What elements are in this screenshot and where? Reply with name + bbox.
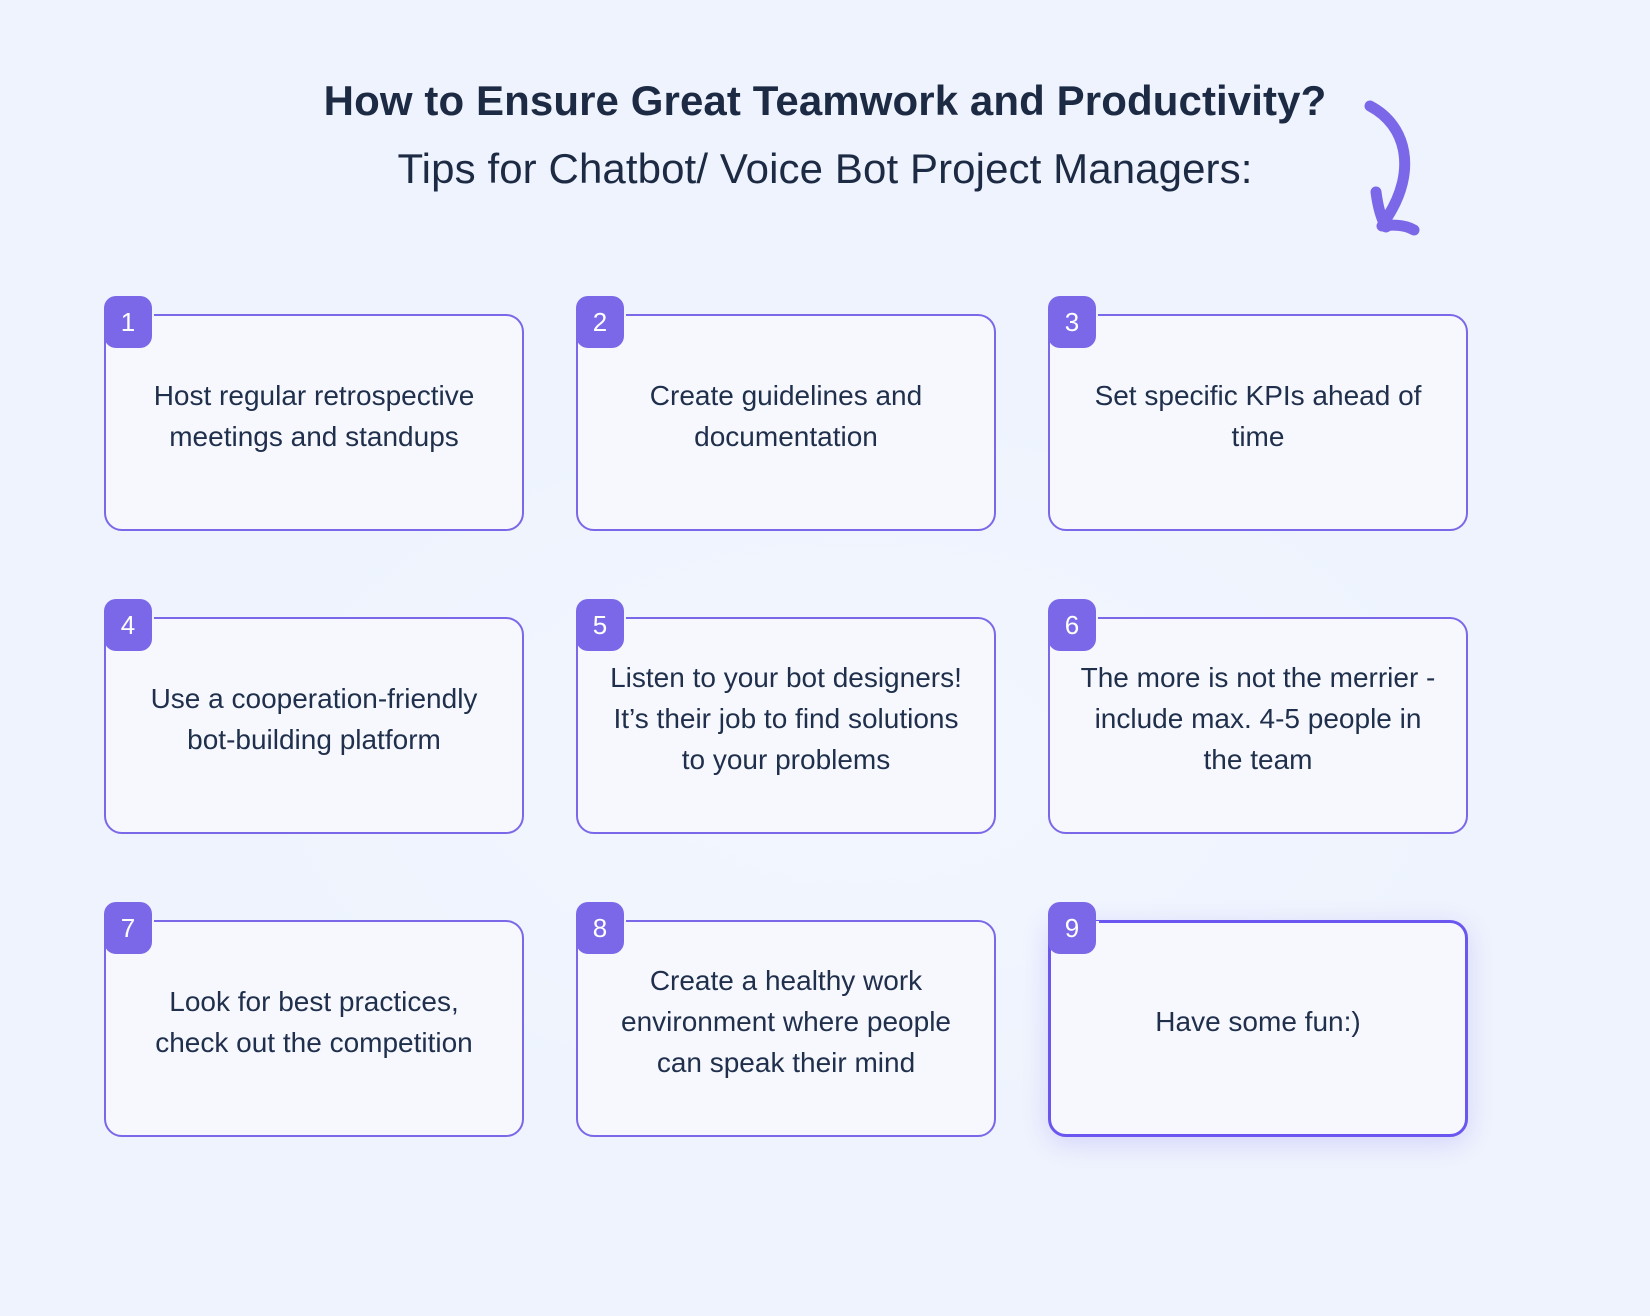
page-title-line-2: Tips for Chatbot/ Voice Bot Project Mana… xyxy=(0,144,1650,194)
tip-card-7[interactable]: 7 Look for best practices, check out the… xyxy=(104,902,524,1137)
header: How to Ensure Great Teamwork and Product… xyxy=(0,76,1650,193)
card-text: Listen to your bot designers! It’s their… xyxy=(598,599,974,834)
tips-grid: 1 Host regular retrospective meetings an… xyxy=(104,296,1508,1137)
tip-card-9[interactable]: 9 Have some fun:) xyxy=(1048,902,1468,1137)
card-number-badge: 7 xyxy=(104,902,152,954)
tip-card-2[interactable]: 2 Create guidelines and documentation xyxy=(576,296,996,531)
tip-card-4[interactable]: 4 Use a cooperation-friendly bot-buildin… xyxy=(104,599,524,834)
card-number-badge: 1 xyxy=(104,296,152,348)
card-text: Create guidelines and documentation xyxy=(598,296,974,531)
page-title-line-1: How to Ensure Great Teamwork and Product… xyxy=(0,76,1650,126)
card-text: Look for best practices, check out the c… xyxy=(126,902,502,1137)
card-text: The more is not the merrier - include ma… xyxy=(1070,599,1446,834)
card-number-badge: 4 xyxy=(104,599,152,651)
card-text: Use a cooperation-friendly bot-building … xyxy=(126,599,502,834)
tip-card-8[interactable]: 8 Create a healthy work environment wher… xyxy=(576,902,996,1137)
tip-card-5[interactable]: 5 Listen to your bot designers! It’s the… xyxy=(576,599,996,834)
card-number-badge: 8 xyxy=(576,902,624,954)
infographic-page: How to Ensure Great Teamwork and Product… xyxy=(0,0,1650,1316)
tip-card-3[interactable]: 3 Set specific KPIs ahead of time xyxy=(1048,296,1468,531)
card-number-badge: 2 xyxy=(576,296,624,348)
card-number-badge: 9 xyxy=(1048,902,1096,954)
card-text: Have some fun:) xyxy=(1070,902,1446,1137)
card-number-badge: 3 xyxy=(1048,296,1096,348)
card-text: Set specific KPIs ahead of time xyxy=(1070,296,1446,531)
card-number-badge: 6 xyxy=(1048,599,1096,651)
tip-card-1[interactable]: 1 Host regular retrospective meetings an… xyxy=(104,296,524,531)
tip-card-6[interactable]: 6 The more is not the merrier - include … xyxy=(1048,599,1468,834)
card-number-badge: 5 xyxy=(576,599,624,651)
card-text: Create a healthy work environment where … xyxy=(598,902,974,1137)
card-text: Host regular retrospective meetings and … xyxy=(126,296,502,531)
